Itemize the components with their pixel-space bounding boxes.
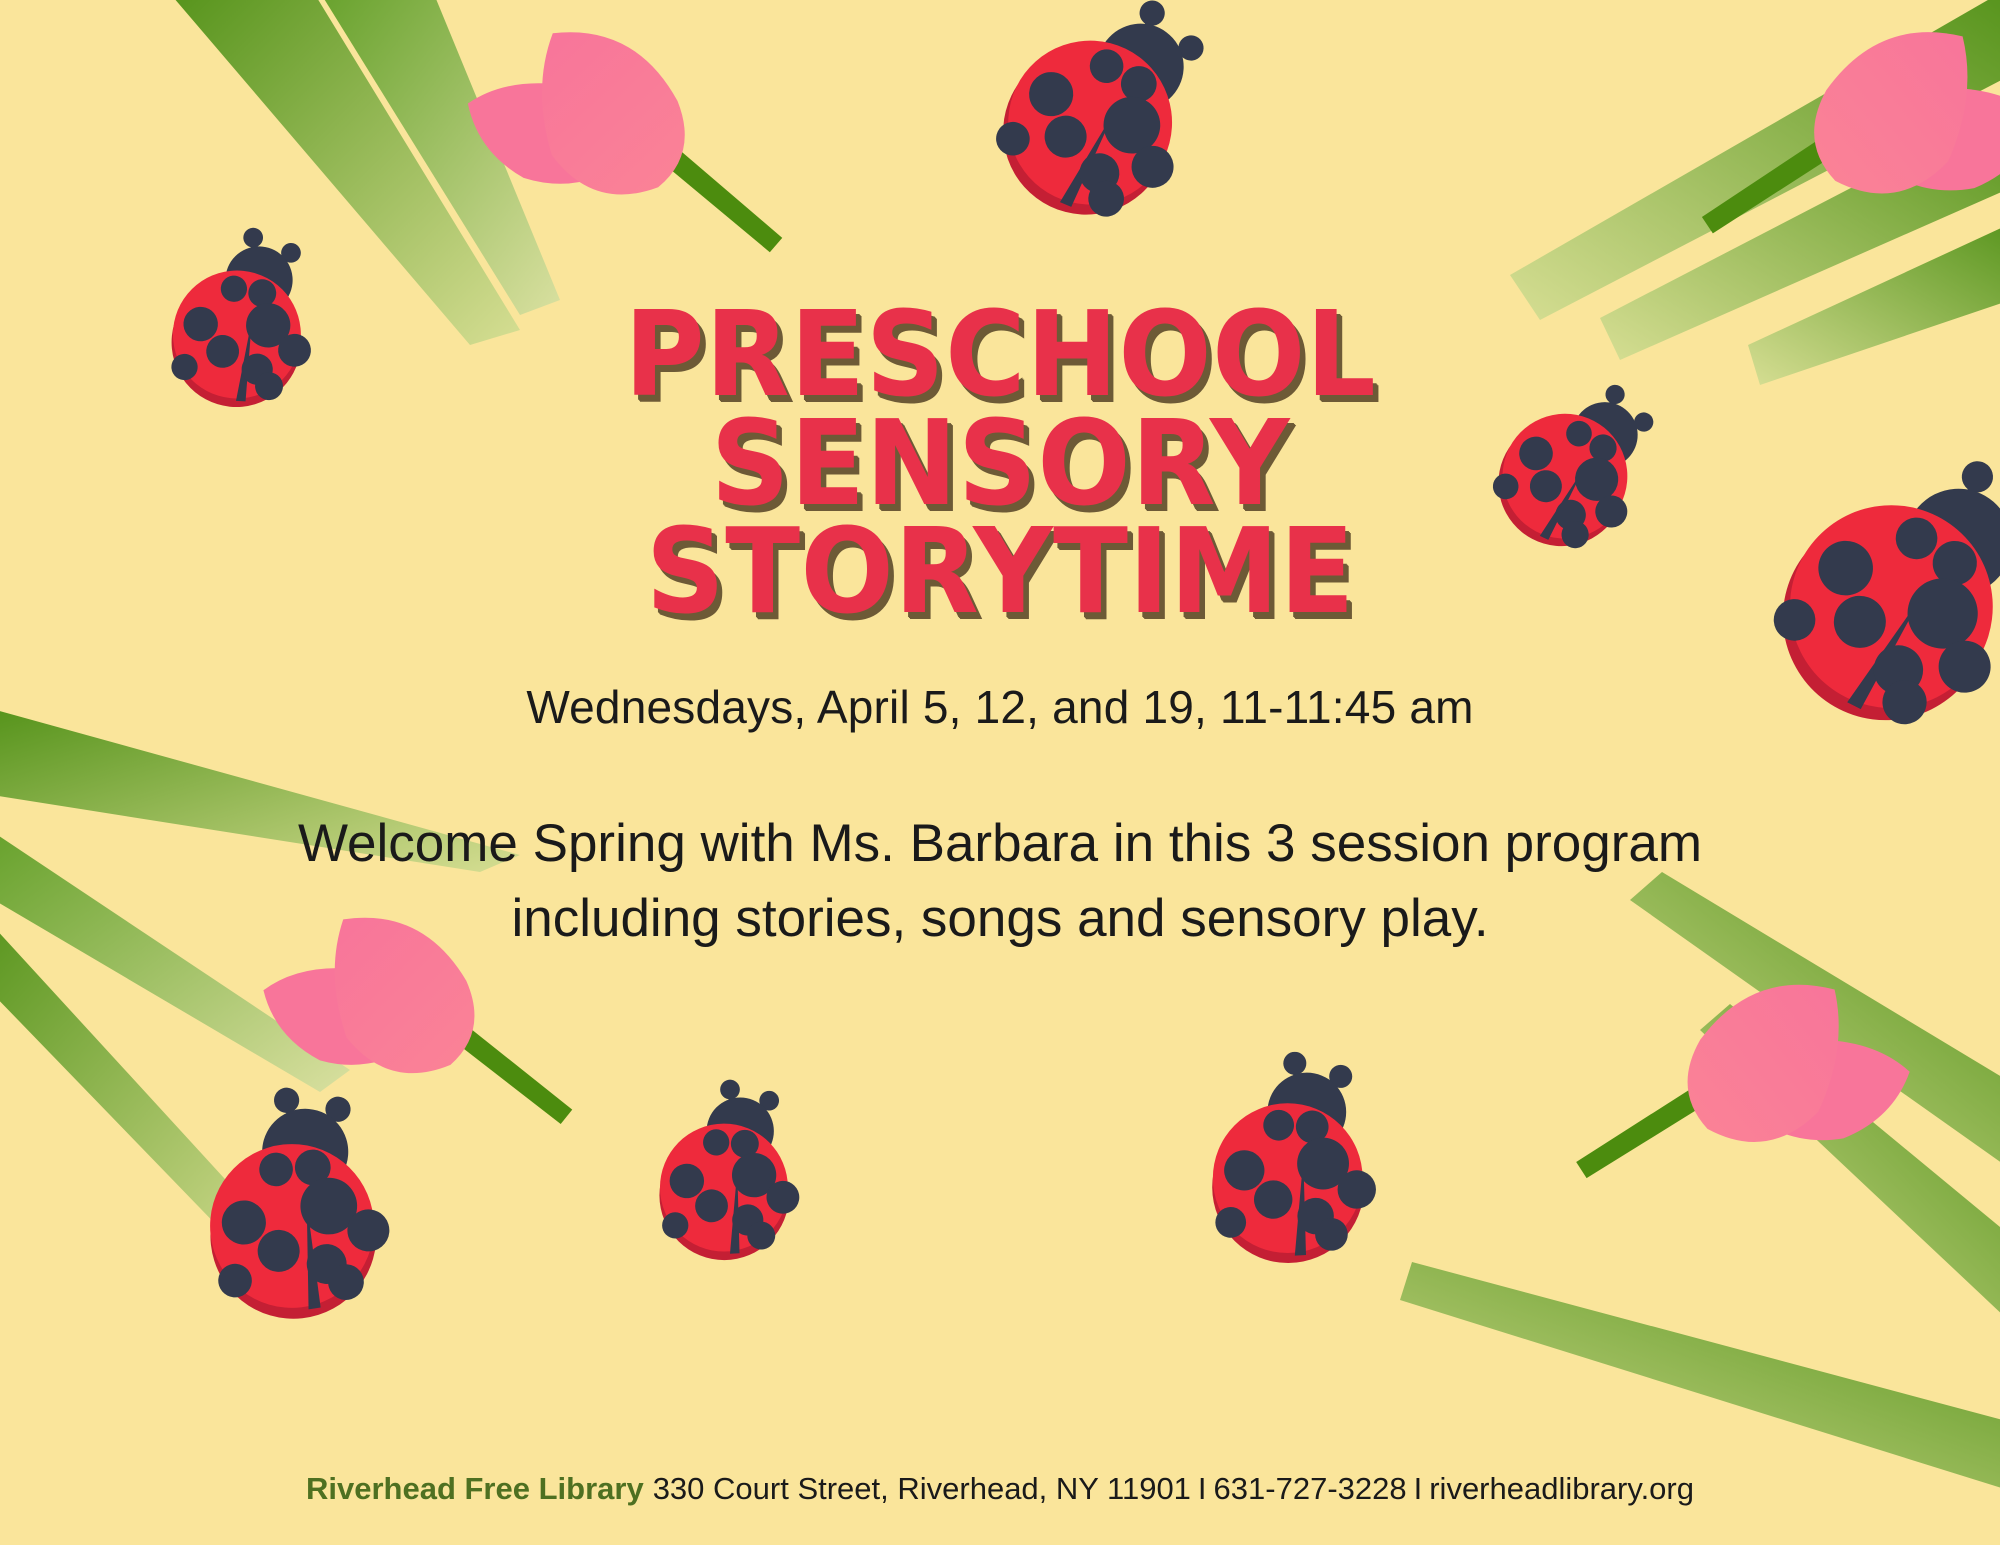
footer-separator-2: I [1414,1471,1423,1506]
title-line-1: PRESCHOOL [624,300,1376,409]
poster-content: PRESCHOOL SENSORY STORYTIME Wednesdays, … [0,0,2000,1545]
library-name: Riverhead Free Library [306,1471,644,1506]
footer-contact-bar: Riverhead Free Library330 Court Street, … [0,1471,2000,1507]
event-description: Welcome Spring with Ms. Barbara in this … [298,806,1702,957]
footer-separator-1: I [1198,1471,1207,1506]
title-line-2: SENSORY [624,409,1376,518]
page-title: PRESCHOOL SENSORY STORYTIME [596,300,1405,626]
library-website[interactable]: riverheadlibrary.org [1429,1471,1694,1506]
library-address: 330 Court Street, Riverhead, NY 11901 [653,1471,1191,1506]
library-phone: 631-727-3228 [1214,1471,1407,1506]
event-date-time: Wednesdays, April 5, 12, and 19, 11-11:4… [526,680,1473,734]
poster-canvas: PRESCHOOL SENSORY STORYTIME Wednesdays, … [0,0,2000,1545]
title-line-3: STORYTIME [624,517,1376,626]
description-line-2: including stories, songs and sensory pla… [298,881,1702,956]
description-line-1: Welcome Spring with Ms. Barbara in this … [298,806,1702,881]
